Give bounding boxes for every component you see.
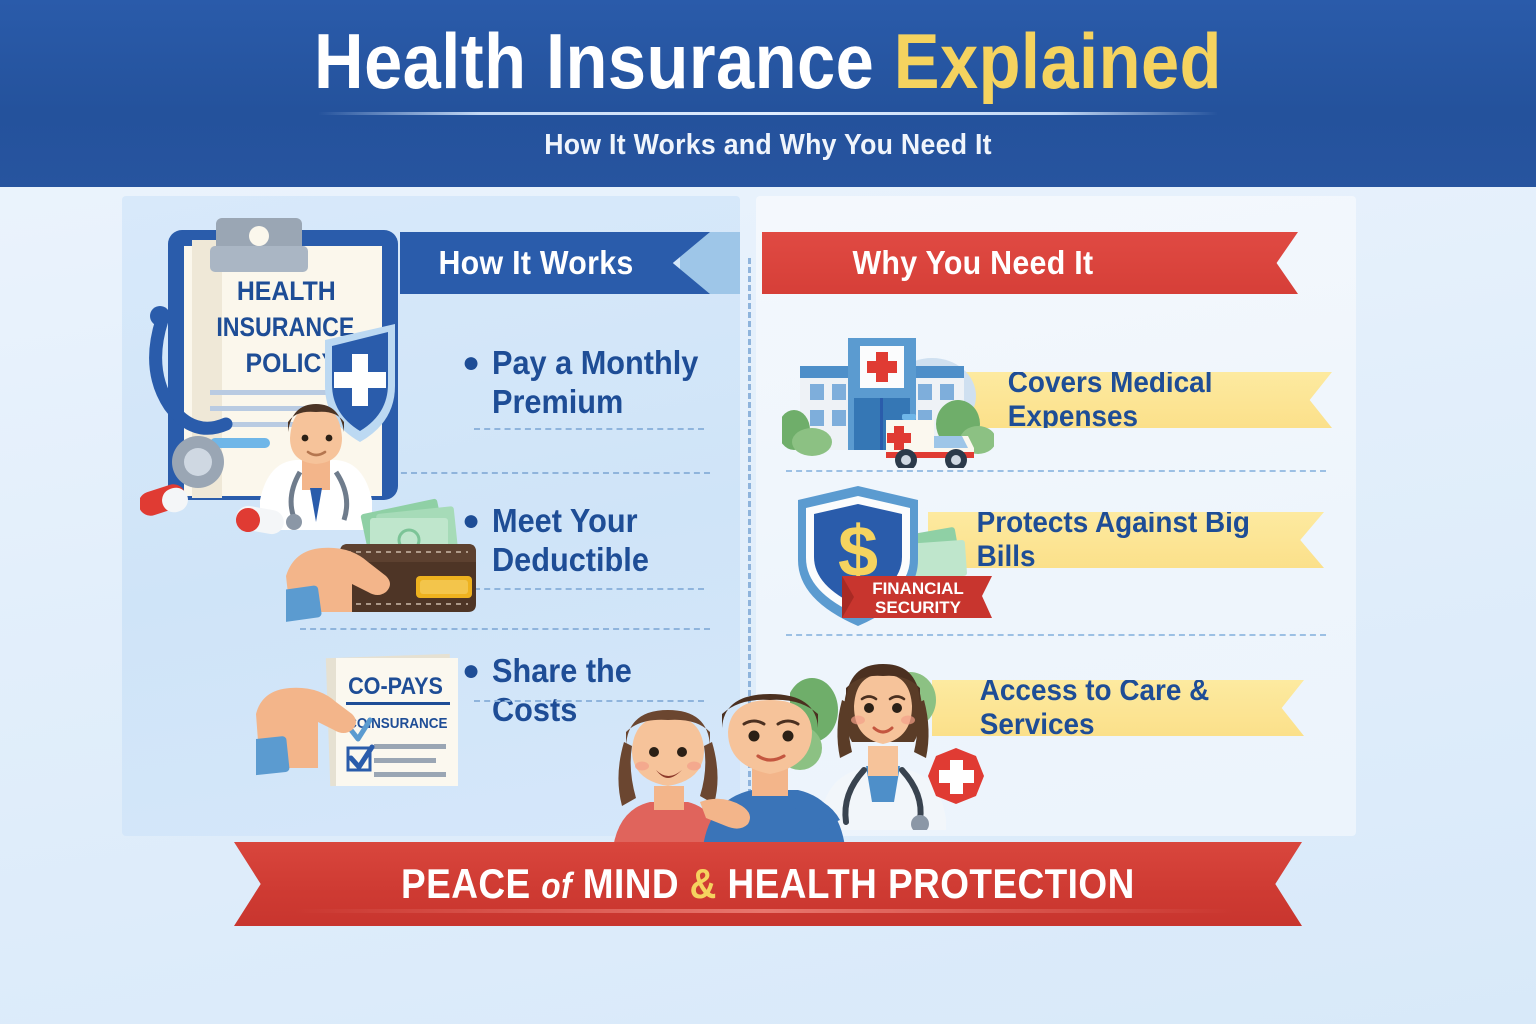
family-svg	[602, 694, 850, 856]
title-yellow-part: Explained	[894, 17, 1222, 105]
footer-ampersand: &	[690, 860, 717, 907]
footer-part1: PEACE	[401, 860, 541, 907]
footer-of: of	[541, 865, 572, 906]
list-item-label: Pay a Monthly Premium	[492, 344, 706, 422]
clipboard-line2: INSURANCE	[216, 312, 354, 342]
hospital-ambulance-icon	[782, 332, 994, 468]
ribbon-line1: FINANCIAL	[872, 579, 964, 598]
copays-form-svg: CO-PAYS COINSURANCE	[256, 636, 506, 816]
hospital-ambulance-svg	[782, 332, 994, 468]
ribbon-line2: SECURITY	[875, 598, 962, 617]
shield-dollar-svg: $ FINANCIAL SECURITY	[784, 484, 1006, 636]
list-item: ● Meet Your Deductible	[462, 502, 722, 580]
why-you-need-it-ribbon: Why You Need It	[762, 232, 1298, 294]
clipboard-policy-svg: HEALTH INSURANCE POLICY	[140, 200, 470, 540]
footer-banner-sheen	[294, 909, 1234, 913]
copays-title: CO-PAYS	[348, 672, 443, 699]
item-underline-dash	[474, 428, 704, 430]
benefit-banner: Access to Care & Services	[932, 680, 1304, 736]
header-bar: Health Insurance Explained How It Works …	[0, 0, 1536, 187]
benefit-banner-label: Protects Against Big Bills	[977, 506, 1312, 574]
clipboard-line1: HEALTH	[237, 277, 336, 306]
why-you-need-it-ribbon-label: Why You Need It	[852, 244, 1093, 282]
wallet-cash-svg	[286, 492, 498, 638]
footer-banner: PEACE of MIND & HEALTH PROTECTION	[234, 842, 1302, 926]
page-title: Health Insurance Explained	[92, 22, 1444, 100]
infographic-canvas: Health Insurance Explained How It Works …	[0, 0, 1536, 1024]
title-white-part: Health Insurance	[314, 17, 874, 105]
footer-banner-label: PEACE of MIND & HEALTH PROTECTION	[401, 860, 1135, 908]
financial-security-ribbon: FINANCIAL SECURITY	[842, 576, 992, 618]
list-item-label: Meet Your Deductible	[492, 502, 706, 580]
footer-part3: HEALTH PROTECTION	[717, 860, 1135, 907]
copays-form-icon: CO-PAYS COINSURANCE	[256, 636, 506, 816]
benefit-banner: Covers Medical Expenses	[960, 372, 1332, 428]
benefit-separator-dash	[786, 470, 1326, 472]
footer-part2: MIND	[572, 860, 690, 907]
item-underline-dash	[474, 588, 704, 590]
clipboard-line3: POLICY	[246, 349, 338, 378]
benefit-banner-label: Access to Care & Services	[980, 674, 1292, 742]
title-divider-rule	[318, 112, 1218, 115]
family-icon	[602, 694, 850, 856]
wallet-cash-icon	[286, 492, 498, 638]
list-item: ● Pay a Monthly Premium	[462, 344, 722, 422]
shield-dollar-icon: $ FINANCIAL SECURITY	[784, 484, 1006, 636]
benefit-banner-label: Covers Medical Expenses	[1008, 366, 1320, 434]
clipboard-policy-icon: HEALTH INSURANCE POLICY	[140, 200, 470, 540]
page-subtitle: How It Works and Why You Need It	[61, 129, 1474, 162]
red-cross-badge-icon	[928, 748, 984, 804]
